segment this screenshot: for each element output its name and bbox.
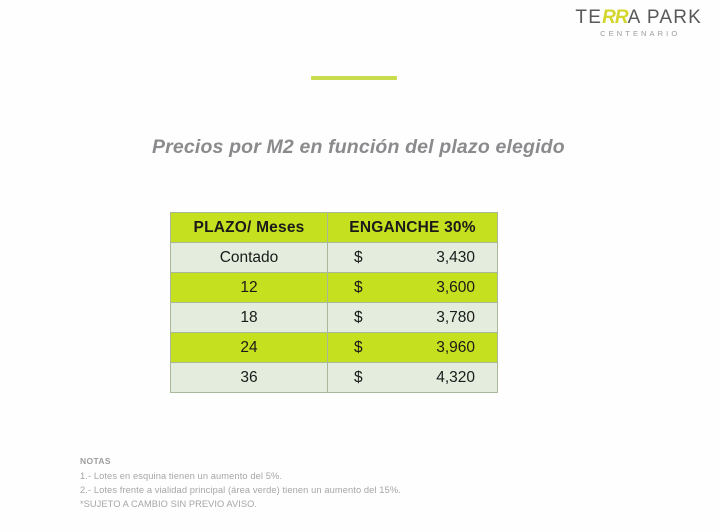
brand-logo-rr-ligature: RR xyxy=(602,7,627,28)
cell-enganche: $ 4,320 xyxy=(328,363,498,393)
notes-heading: NOTAS xyxy=(80,456,401,466)
slide-canvas: TERRA PARK CENTENARIO Precios por M2 en … xyxy=(0,0,720,532)
notes-item: 1.- Lotes en esquina tienen un aumento d… xyxy=(80,469,401,483)
cell-enganche: $ 3,780 xyxy=(328,303,498,333)
brand-logo-text-prefix: TE xyxy=(575,7,602,28)
amount-value: 3,960 xyxy=(436,339,475,357)
currency-symbol: $ xyxy=(354,369,363,387)
cell-plazo: Contado xyxy=(171,243,328,273)
cell-plazo: 36 xyxy=(171,363,328,393)
page-title: Precios por M2 en función del plazo eleg… xyxy=(152,136,565,159)
cell-plazo: 18 xyxy=(171,303,328,333)
column-header-enganche: ENGANCHE 30% xyxy=(328,213,498,243)
amount-value: 3,600 xyxy=(436,279,475,297)
table-row: 12 $ 3,600 xyxy=(171,273,498,303)
currency-symbol: $ xyxy=(354,249,363,267)
notes-disclaimer: *SUJETO A CAMBIO SIN PREVIO AVISO. xyxy=(80,497,401,511)
accent-divider xyxy=(311,76,397,80)
amount-value: 3,780 xyxy=(436,309,475,327)
currency-symbol: $ xyxy=(354,279,363,297)
table-row: 24 $ 3,960 xyxy=(171,333,498,363)
cell-enganche: $ 3,600 xyxy=(328,273,498,303)
price-table-body: Contado $ 3,430 12 $ 3,600 1 xyxy=(171,243,498,393)
amount-value: 4,320 xyxy=(436,369,475,387)
brand-logo-text-suffix: A PARK xyxy=(628,7,702,28)
table-row: Contado $ 3,430 xyxy=(171,243,498,273)
column-header-plazo: PLAZO/ Meses xyxy=(171,213,328,243)
notes-item: 2.- Lotes frente a vialidad principal (á… xyxy=(80,483,401,497)
price-table: PLAZO/ Meses ENGANCHE 30% Contado $ 3,43… xyxy=(170,212,498,393)
table-row: 18 $ 3,780 xyxy=(171,303,498,333)
brand-logo-wordmark: TERRA PARK xyxy=(575,8,702,27)
currency-symbol: $ xyxy=(354,339,363,357)
cell-plazo: 12 xyxy=(171,273,328,303)
amount-value: 3,430 xyxy=(436,249,475,267)
currency-symbol: $ xyxy=(354,309,363,327)
cell-plazo: 24 xyxy=(171,333,328,363)
notes-section: NOTAS 1.- Lotes en esquina tienen un aum… xyxy=(80,456,401,511)
brand-logo-subtitle: CENTENARIO xyxy=(575,30,702,38)
table-row: 36 $ 4,320 xyxy=(171,363,498,393)
cell-enganche: $ 3,960 xyxy=(328,333,498,363)
table-header-row: PLAZO/ Meses ENGANCHE 30% xyxy=(171,213,498,243)
cell-enganche: $ 3,430 xyxy=(328,243,498,273)
brand-logo: TERRA PARK CENTENARIO xyxy=(575,8,702,38)
